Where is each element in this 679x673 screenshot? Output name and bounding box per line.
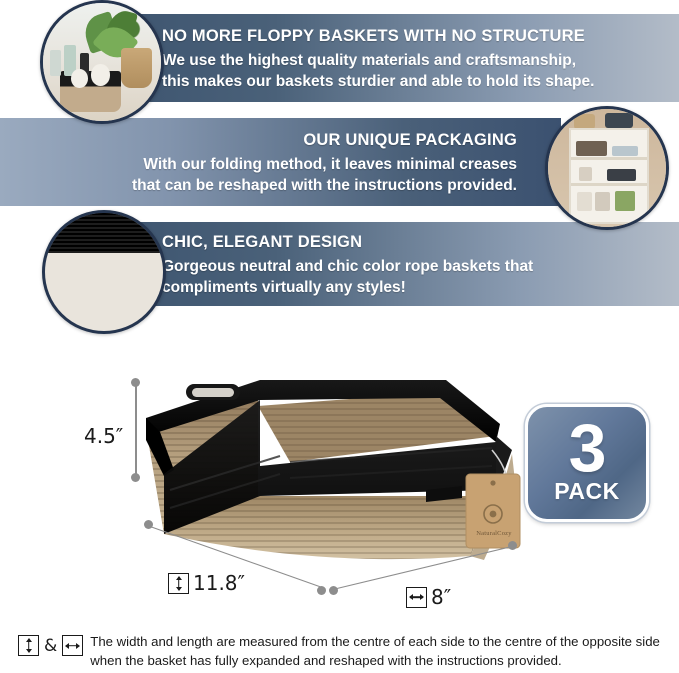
feature-banner-packaging: OUR UNIQUE PACKAGING With our folding me… — [0, 118, 561, 206]
height-dimension-label: 4.5″ — [84, 424, 123, 448]
footnote-line-2: when the basket has fully expanded and r… — [90, 652, 660, 671]
horizontal-arrow-icon — [406, 587, 427, 608]
length-dimension-dot-bottom — [317, 586, 326, 595]
height-dimension-dot-bottom — [131, 473, 140, 482]
height-dimension-line — [135, 382, 137, 478]
feature-body: With our folding method, it leaves minim… — [132, 155, 517, 196]
feature-body: We use the highest quality materials and… — [162, 51, 594, 92]
feature-heading: NO MORE FLOPPY BASKETS WITH NO STRUCTURE — [162, 27, 594, 45]
footnote-icon-group: & — [18, 633, 83, 656]
vertical-arrow-icon — [168, 573, 189, 594]
footnote-separator: & — [44, 636, 57, 656]
feature-heading: OUR UNIQUE PACKAGING — [132, 131, 517, 149]
pack-count: 3 — [569, 421, 606, 477]
feature-body: Gorgeous neutral and chic color rope bas… — [162, 257, 533, 298]
width-dimension-dot-right — [508, 541, 517, 550]
banner-text-block: OUR UNIQUE PACKAGING With our folding me… — [132, 131, 517, 196]
rope-basket-product-image: NaturalCozy — [140, 370, 530, 570]
feature-body-line-2: this makes our baskets sturdier and able… — [162, 72, 594, 92]
feature-body-line-2: compliments virtually any styles! — [162, 278, 533, 298]
feature-banner-structure: NO MORE FLOPPY BASKETS WITH NO STRUCTURE… — [118, 14, 679, 102]
basket-svg — [140, 370, 530, 570]
feature-body-line-2: that can be reshaped with the instructio… — [132, 176, 517, 196]
length-value: 11.8″ — [193, 571, 245, 595]
vertical-arrow-icon — [18, 635, 39, 656]
footnote-text: The width and length are measured from t… — [90, 633, 660, 670]
footnote-line-1: The width and length are measured from t… — [90, 633, 660, 652]
feature-body-line-1: With our folding method, it leaves minim… — [132, 155, 517, 175]
photo-content — [548, 109, 666, 227]
shelf-with-bins-photo — [545, 106, 669, 230]
horizontal-arrow-icon — [62, 635, 83, 656]
baskets-with-plants-photo — [40, 0, 164, 124]
pack-label: PACK — [554, 478, 619, 505]
length-dimension-label: 11.8″ — [168, 571, 245, 595]
banner-text-block: CHIC, ELEGANT DESIGN Gorgeous neutral an… — [162, 233, 533, 298]
banner-text-block: NO MORE FLOPPY BASKETS WITH NO STRUCTURE… — [162, 27, 594, 92]
feature-banner-design: CHIC, ELEGANT DESIGN Gorgeous neutral an… — [118, 222, 679, 306]
height-dimension-dot-top — [131, 378, 140, 387]
measurement-footnote: & The width and length are measured from… — [18, 633, 668, 670]
width-value: 8″ — [431, 585, 451, 609]
height-value: 4.5″ — [84, 424, 123, 448]
photo-content — [43, 3, 161, 121]
hang-tag-brand-label: NaturalCozy — [470, 530, 518, 537]
feature-heading: CHIC, ELEGANT DESIGN — [162, 233, 533, 251]
feature-body-line-1: We use the highest quality materials and… — [162, 51, 594, 71]
three-pack-badge: 3 PACK — [525, 404, 649, 522]
width-dimension-label: 8″ — [406, 585, 451, 609]
feature-body-line-1: Gorgeous neutral and chic color rope bas… — [162, 257, 533, 277]
photo-content — [45, 213, 163, 331]
rope-texture-closeup-photo — [42, 210, 166, 334]
